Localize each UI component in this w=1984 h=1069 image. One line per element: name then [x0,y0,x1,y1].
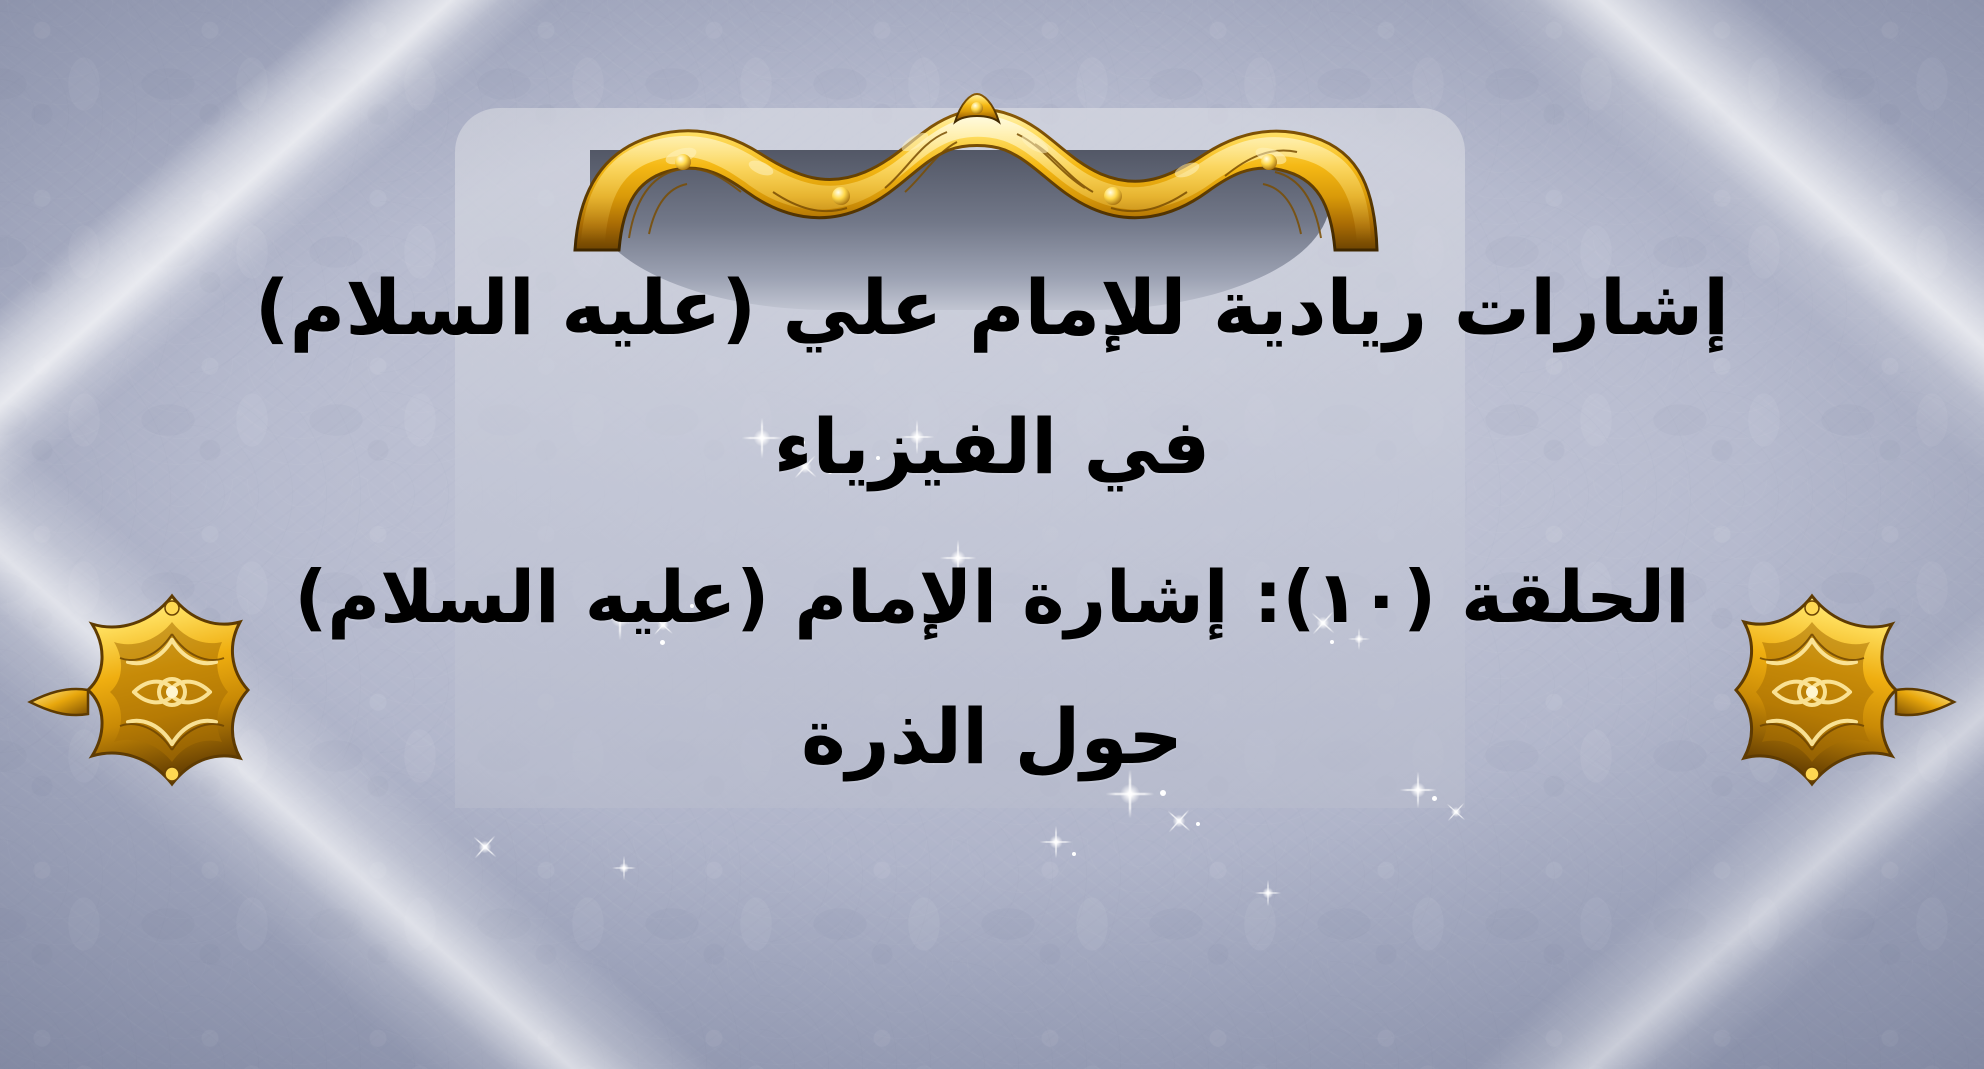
title-text-block: إشارات ريادية للإمام علي (عليه السلام) ف… [0,268,1984,778]
slide-canvas: إشارات ريادية للإمام علي (عليه السلام) ف… [0,0,1984,1069]
title-line-1: إشارات ريادية للإمام علي (عليه السلام) [0,268,1984,349]
title-line-3: الحلقة (١٠): إشارة الإمام (عليه السلام) [0,559,1984,635]
title-line-2: في الفيزياء [0,407,1984,488]
title-line-4: حول الذرة [0,697,1984,778]
